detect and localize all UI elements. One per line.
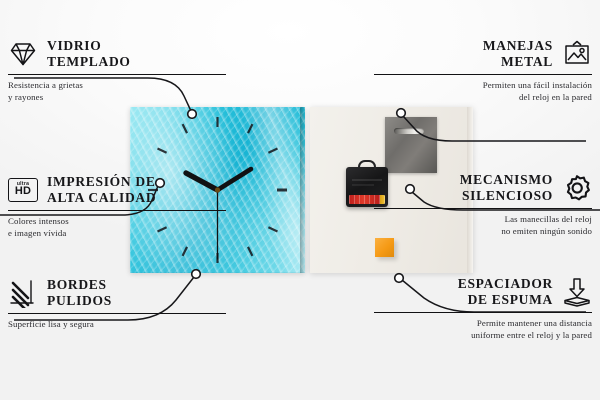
title-line-1: VIDRIO — [47, 38, 101, 53]
feature-title: BORDES PULIDOS — [47, 277, 112, 309]
title-line-1: MANEJAS — [483, 38, 553, 53]
feature-subtitle: Superficie lisa y segura — [8, 318, 226, 330]
picture-frame-hanger-icon — [562, 39, 592, 69]
feature-subtitle: Resistencia a grietas y rayones — [8, 79, 226, 104]
metal-hanger-plate — [385, 117, 437, 173]
title-line-2: DE ESPUMA — [468, 292, 553, 307]
feature-subtitle: Las manecillas del reloj no emiten ningú… — [374, 213, 592, 238]
gear-icon — [562, 173, 592, 203]
subtitle-line-1: Permiten una fácil instalación — [483, 80, 592, 90]
feature-header: MECANISMO SILENCIOSO — [374, 172, 592, 204]
ultra-hd-icon: ultra HD — [8, 178, 38, 202]
clock-dial — [130, 107, 305, 273]
subtitle-line-1: Las manecillas del reloj — [505, 214, 592, 224]
feature-subtitle: Permiten una fácil instalación del reloj… — [374, 79, 592, 104]
title-line-1: ESPACIADOR — [458, 276, 553, 291]
subtitle-line-2: y rayones — [8, 92, 43, 102]
subtitle-line-1: Permite mantener una distancia — [477, 318, 592, 328]
feature-header: MANEJAS METAL — [374, 38, 592, 70]
feature-mecanismo-silencioso: MECANISMO SILENCIOSO Las manecillas del … — [374, 172, 592, 238]
feature-rule — [374, 74, 592, 75]
mechanism-loop — [358, 160, 376, 170]
mechanism-detail-line-2 — [352, 184, 374, 186]
feature-title: ESPACIADOR DE ESPUMA — [458, 276, 553, 308]
feature-rule — [8, 313, 226, 314]
feature-title: MANEJAS METAL — [483, 38, 553, 70]
hd-icon-large-text: HD — [15, 186, 31, 197]
feature-rule — [374, 208, 592, 209]
feature-header: VIDRIO TEMPLADO — [8, 38, 226, 70]
feature-rule — [374, 312, 592, 313]
subtitle-line-1: Superficie lisa y segura — [8, 319, 94, 329]
arrow-down-pad-icon — [562, 277, 592, 307]
infographic-stage: VIDRIO TEMPLADO Resistencia a grietas y … — [0, 0, 600, 400]
subtitle-line-2: uniforme entre el reloj y la pared — [471, 330, 592, 340]
subtitle-line-1: Resistencia a grietas — [8, 80, 83, 90]
subtitle-line-2: no emiten ningún sonido — [501, 226, 592, 236]
feature-espaciador-espuma: ESPACIADOR DE ESPUMA Permite mantener un… — [374, 276, 592, 342]
subtitle-line-2: e imagen vívida — [8, 228, 66, 238]
feature-title: MECANISMO SILENCIOSO — [460, 172, 553, 204]
polished-edges-icon — [8, 278, 38, 308]
title-line-2: SILENCIOSO — [462, 188, 553, 203]
feature-rule — [8, 74, 226, 75]
feature-manejas-metal: MANEJAS METAL Permiten una fácil instala… — [374, 38, 592, 104]
diamond-icon — [8, 39, 38, 69]
feature-header: ESPACIADOR DE ESPUMA — [374, 276, 592, 308]
title-line-1: MECANISMO — [460, 172, 553, 187]
title-line-2: METAL — [501, 54, 553, 69]
subtitle-line-2: del reloj en la pared — [519, 92, 592, 102]
title-line-2: TEMPLADO — [47, 54, 131, 69]
feature-subtitle: Permite mantener una distancia uniforme … — [374, 317, 592, 342]
clock-front-face — [130, 107, 305, 273]
title-line-2: PULIDOS — [47, 293, 112, 308]
feature-header: BORDES PULIDOS — [8, 277, 226, 309]
feature-bordes-pulidos: BORDES PULIDOS Superficie lisa y segura — [8, 277, 226, 330]
foam-spacer-square — [375, 238, 394, 257]
feature-title: VIDRIO TEMPLADO — [47, 38, 131, 70]
feature-vidrio-templado: VIDRIO TEMPLADO Resistencia a grietas y … — [8, 38, 226, 104]
title-line-1: BORDES — [47, 277, 107, 292]
hanger-slot — [394, 128, 424, 134]
subtitle-line-1: Colores intensos — [8, 216, 69, 226]
